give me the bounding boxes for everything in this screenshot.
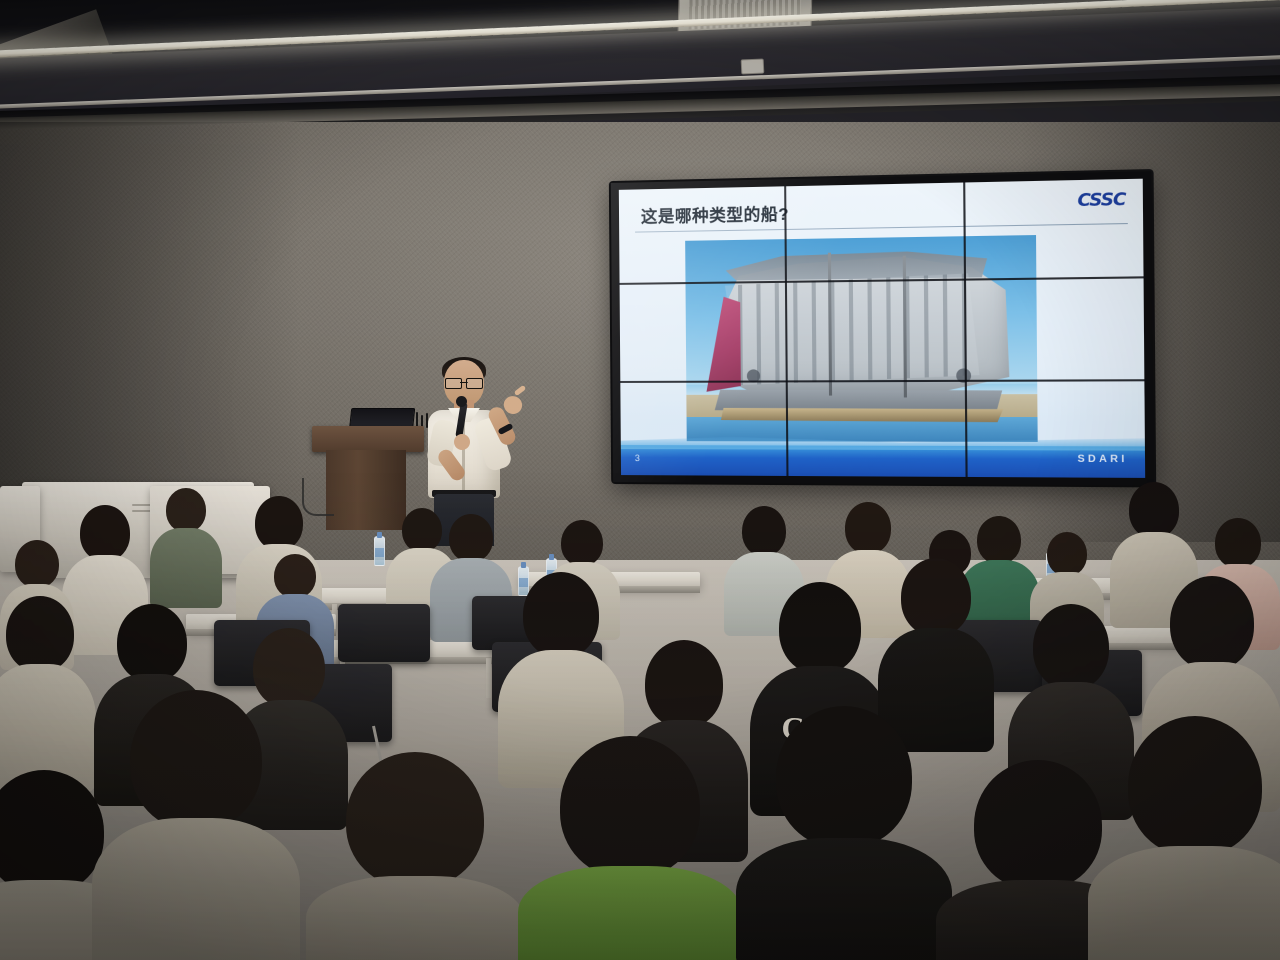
head (80, 505, 130, 561)
chair (338, 604, 430, 662)
torso (150, 528, 222, 608)
torso (736, 838, 952, 960)
cssc-logo: CSSC (1077, 190, 1125, 212)
head (1128, 716, 1262, 856)
attendee-r3-g (1088, 716, 1280, 960)
glasses-icon (445, 378, 483, 387)
head (274, 554, 316, 598)
torso (1088, 846, 1280, 960)
sdari-logo: SDARI (1077, 454, 1127, 466)
head (1033, 604, 1109, 690)
microphone-head (456, 396, 467, 407)
lecture-hall-photo: 这是哪种类型的船? CSSC 3 SDARI (0, 0, 1280, 960)
head (779, 582, 861, 674)
attendee-r1-c (150, 488, 222, 608)
head (1129, 482, 1179, 538)
presenter-left-hand (454, 434, 470, 450)
head (561, 520, 603, 566)
head (776, 706, 912, 848)
head (0, 770, 104, 894)
slide-footer: 3 SDARI (621, 445, 1145, 478)
attendee-r3-d (518, 736, 742, 960)
head (449, 514, 493, 562)
head (130, 690, 262, 830)
slide-photo-ship-block (685, 235, 1038, 442)
attendee-r2-a (0, 596, 96, 790)
presentation-slide: 这是哪种类型的船? CSSC 3 SDARI (619, 179, 1145, 478)
head (560, 736, 700, 878)
head (645, 640, 723, 728)
video-wall-display[interactable]: 这是哪种类型的船? CSSC 3 SDARI (611, 171, 1154, 485)
head (1170, 576, 1254, 670)
torso (518, 866, 742, 960)
head (346, 752, 484, 888)
ceiling-sensor-icon (741, 59, 765, 75)
wall-shadow-left (0, 122, 300, 522)
presenter-pointing-finger (514, 385, 527, 396)
head (255, 496, 303, 550)
slide-title: 这是哪种类型的船? (641, 200, 789, 227)
torso (306, 876, 524, 960)
head (977, 516, 1021, 564)
head (523, 572, 599, 658)
head (15, 540, 59, 588)
spmt-transporter (721, 408, 1004, 423)
desk-leg (486, 658, 491, 698)
torso (92, 818, 300, 960)
head (742, 506, 786, 556)
head (1047, 532, 1087, 576)
attendee-r3-b (92, 690, 300, 960)
head (1215, 518, 1261, 568)
ship-antifouling-paint (706, 297, 741, 392)
attendee-r3-c (306, 752, 524, 960)
head (117, 604, 187, 682)
head (901, 558, 971, 636)
head (166, 488, 206, 532)
water-bottle (374, 536, 385, 566)
head (974, 760, 1102, 890)
slide-page-number: 3 (635, 453, 640, 463)
attendee-r3-e (736, 706, 952, 960)
podium-top (312, 426, 424, 452)
bottle-label (375, 548, 384, 557)
head (845, 502, 891, 554)
head (6, 596, 74, 672)
